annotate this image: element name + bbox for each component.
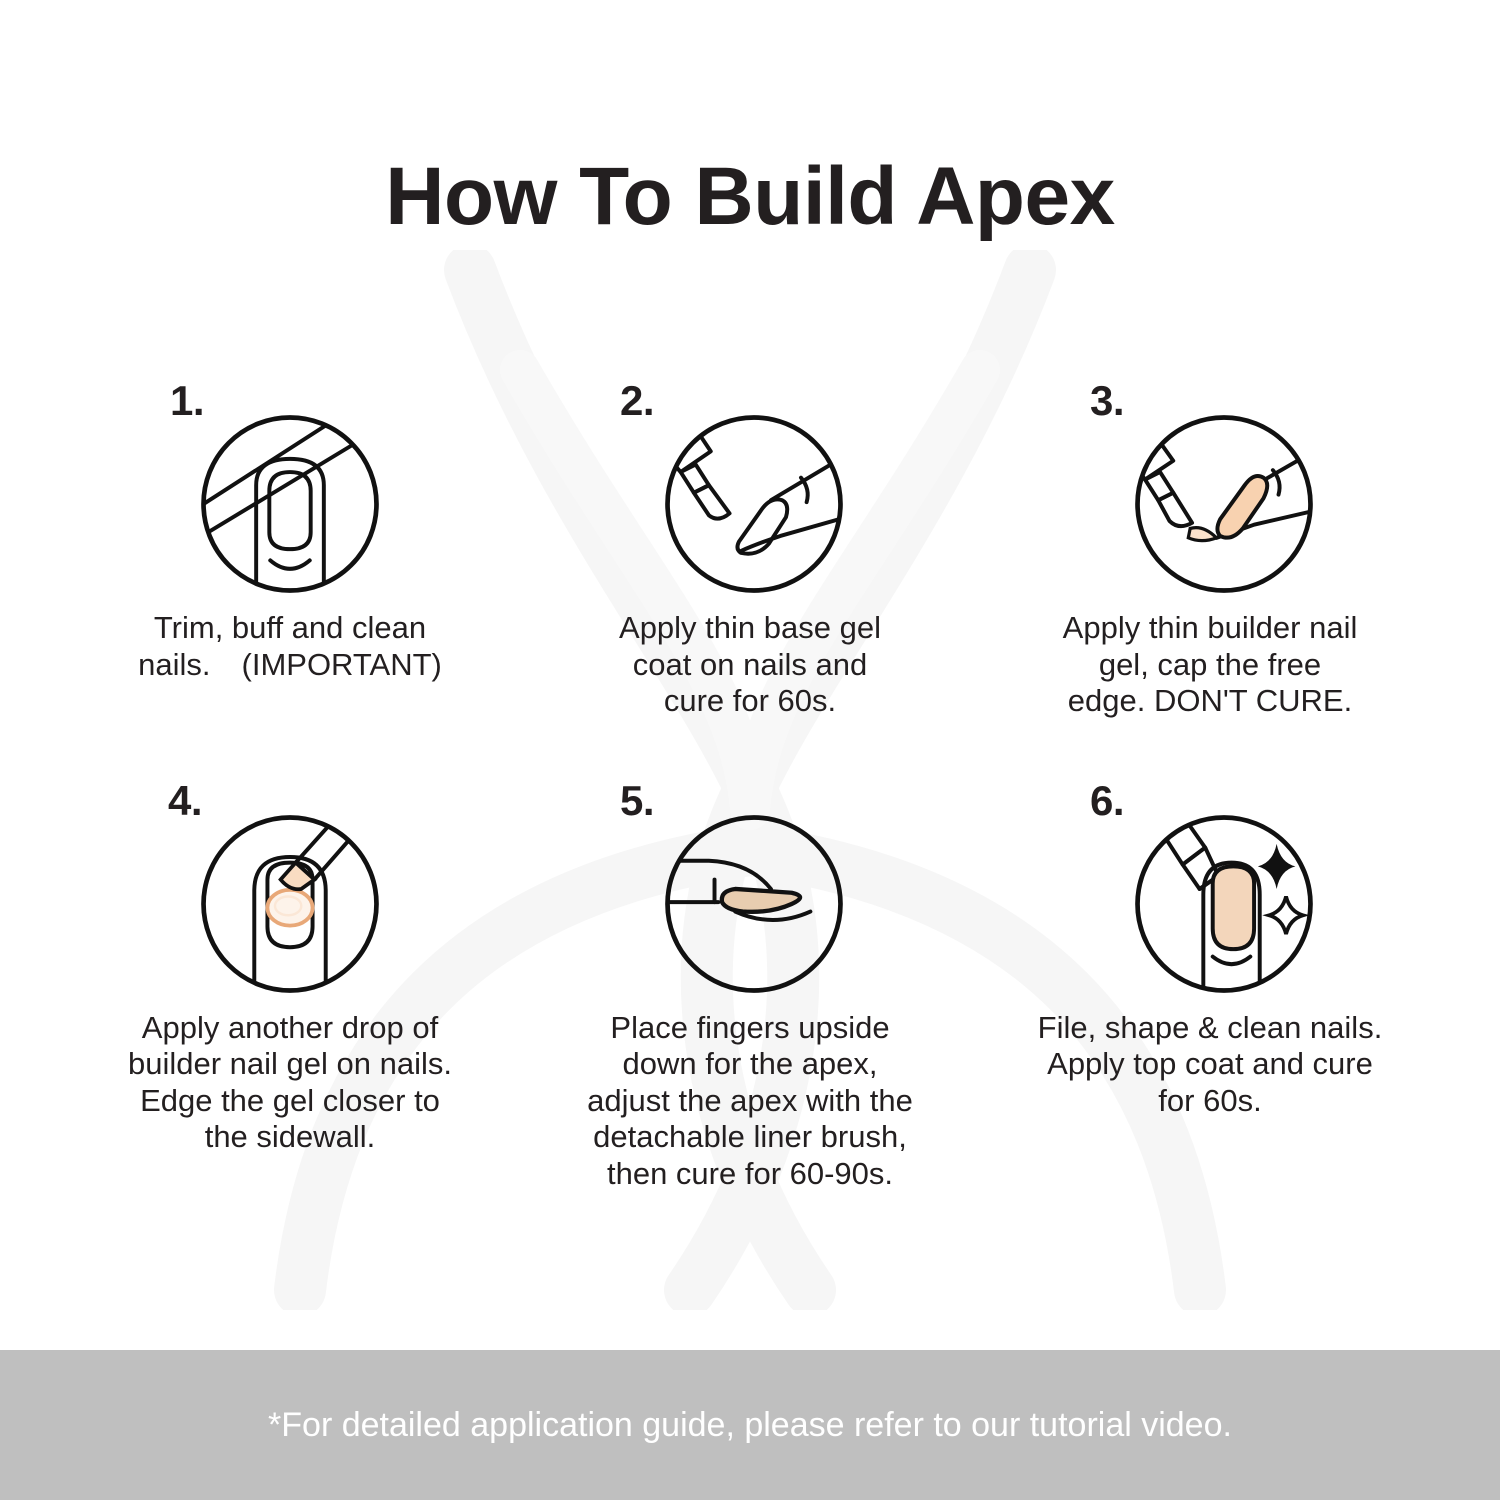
step-3-number: 3. — [1090, 380, 1124, 422]
step-2-header: 2. — [520, 378, 980, 610]
brush-applying-base-gel-icon — [660, 410, 848, 598]
step-2-number: 2. — [620, 380, 654, 422]
how-to-build-apex-infographic: How To Build Apex 1. — [0, 0, 1500, 1500]
step-1-header: 1. — [60, 378, 520, 610]
step-4-caption: Apply another drop of builder nail gel o… — [60, 1010, 520, 1156]
step-1: 1. — [60, 378, 520, 720]
step-6-number: 6. — [1090, 780, 1124, 822]
step-2: 2. — [520, 378, 980, 720]
step-1-caption: Trim, buff and clean nails. (IMPORTANT) — [60, 610, 520, 683]
finger-upside-down-apex-icon — [660, 810, 848, 998]
step-2-caption: Apply thin base gel coat on nails and cu… — [520, 610, 980, 720]
page-title: How To Build Apex — [0, 150, 1500, 244]
step-5: 5. — [520, 778, 980, 1193]
step-5-header: 5. — [520, 778, 980, 1010]
nail-file-sparkle-icon — [1130, 810, 1318, 998]
step-6: 6. — [980, 778, 1440, 1193]
brush-applying-builder-gel-icon — [1130, 410, 1318, 598]
footer-note: *For detailed application guide, please … — [268, 1406, 1232, 1445]
step-6-header: 6. — [980, 778, 1440, 1010]
brush-dropping-gel-on-nail-icon — [196, 810, 384, 998]
step-3-caption: Apply thin builder nail gel, cap the fre… — [980, 610, 1440, 720]
step-5-number: 5. — [620, 780, 654, 822]
step-3: 3. — [980, 378, 1440, 720]
step-4: 4. — [60, 778, 520, 1193]
footer-banner: *For detailed application guide, please … — [0, 1350, 1500, 1500]
step-5-caption: Place fingers upside down for the apex, … — [520, 1010, 980, 1193]
step-6-caption: File, shape & clean nails. Apply top coa… — [980, 1010, 1440, 1120]
step-3-header: 3. — [980, 378, 1440, 610]
nail-buffer-file-over-finger-icon — [196, 410, 384, 598]
step-4-header: 4. — [60, 778, 520, 1010]
steps-grid: 1. — [60, 378, 1440, 1193]
